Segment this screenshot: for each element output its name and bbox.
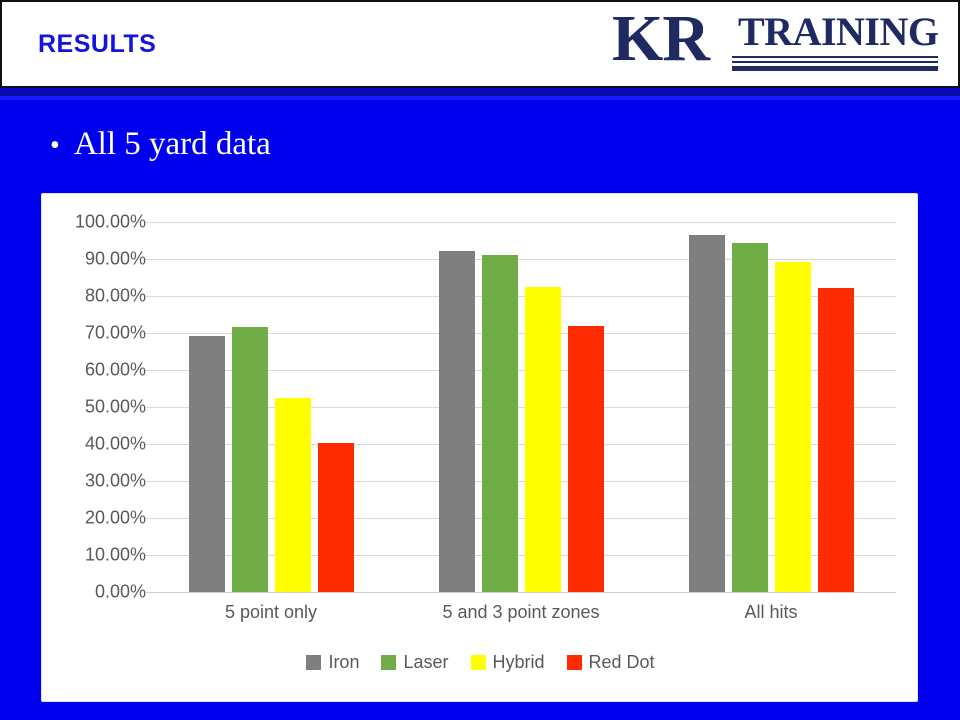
- y-axis-tick-label: 40.00%: [85, 434, 146, 455]
- logo-secondary-text: TRAINING: [738, 12, 938, 52]
- kr-training-logo: KR TRAINING: [610, 8, 940, 82]
- legend-label: Iron: [328, 652, 359, 673]
- chart-plot-area: 100.00%90.00%80.00%70.00%60.00%50.00%40.…: [42, 194, 919, 703]
- legend-label: Red Dot: [589, 652, 655, 673]
- y-axis-tick-label: 90.00%: [85, 249, 146, 270]
- legend-swatch-icon: [471, 655, 486, 670]
- legend-swatch-icon: [567, 655, 582, 670]
- bar-laser: [732, 243, 768, 592]
- legend-item-iron[interactable]: Iron: [306, 652, 359, 673]
- bullet-line: • All 5 yard data: [50, 126, 271, 162]
- chart-panel: 100.00%90.00%80.00%70.00%60.00%50.00%40.…: [41, 193, 918, 702]
- page-title: RESULTS: [38, 30, 156, 59]
- bar-iron: [189, 336, 225, 592]
- x-axis-tick-label: All hits: [744, 602, 797, 623]
- bar-red-dot: [568, 326, 604, 592]
- y-axis-tick-label: 0.00%: [95, 582, 146, 603]
- x-axis-tick-label: 5 point only: [225, 602, 317, 623]
- legend-label: Laser: [403, 652, 448, 673]
- x-axis-tick-label: 5 and 3 point zones: [442, 602, 599, 623]
- y-axis-labels: 100.00%90.00%80.00%70.00%60.00%50.00%40.…: [50, 194, 146, 703]
- bar-hybrid: [775, 262, 811, 592]
- legend-label: Hybrid: [493, 652, 545, 673]
- bar-iron: [439, 251, 475, 592]
- bullet-label: All 5 yard data: [74, 126, 271, 162]
- y-axis-tick-label: 80.00%: [85, 286, 146, 307]
- y-axis-tick-label: 50.00%: [85, 397, 146, 418]
- bar-hybrid: [525, 287, 561, 592]
- bar-red-dot: [818, 288, 854, 592]
- legend-item-hybrid[interactable]: Hybrid: [471, 652, 545, 673]
- bar-iron: [689, 235, 725, 592]
- y-axis-tick-label: 10.00%: [85, 545, 146, 566]
- logo-underline-rules: [732, 56, 938, 71]
- legend-item-laser[interactable]: Laser: [381, 652, 448, 673]
- logo-primary-text: KR: [612, 6, 709, 72]
- bar-hybrid: [275, 398, 311, 592]
- slide: RESULTS KR TRAINING • All 5 yard data 10…: [0, 0, 960, 720]
- header-divider-light: [0, 96, 960, 100]
- legend-item-red-dot[interactable]: Red Dot: [567, 652, 655, 673]
- slide-header: RESULTS KR TRAINING: [0, 0, 960, 88]
- legend-swatch-icon: [381, 655, 396, 670]
- y-axis-tick-label: 100.00%: [75, 212, 146, 233]
- chart-legend: IronLaserHybridRed Dot: [42, 652, 919, 673]
- bar-laser: [232, 327, 268, 592]
- y-axis-tick-label: 20.00%: [85, 508, 146, 529]
- y-axis-tick-label: 70.00%: [85, 323, 146, 344]
- legend-swatch-icon: [306, 655, 321, 670]
- x-axis-labels: 5 point only5 and 3 point zonesAll hits: [146, 602, 896, 636]
- y-axis-tick-label: 60.00%: [85, 360, 146, 381]
- bullet-marker-icon: •: [50, 132, 60, 160]
- bar-red-dot: [318, 443, 354, 592]
- y-axis-tick-label: 30.00%: [85, 471, 146, 492]
- bar-laser: [482, 255, 518, 592]
